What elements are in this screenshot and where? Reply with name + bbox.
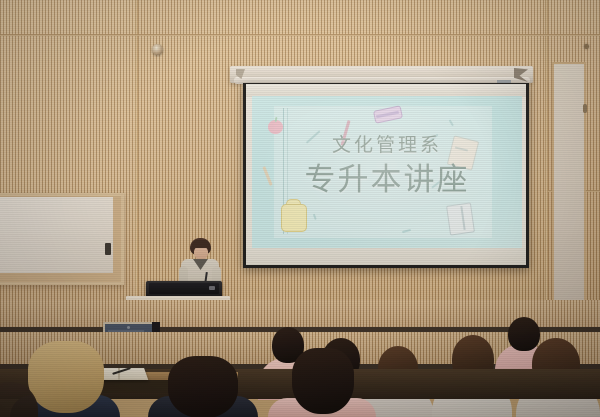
whiteboard-surface	[0, 197, 113, 273]
back-monitor-indicator-icon	[127, 326, 130, 329]
door-knob-icon[interactable]	[583, 104, 587, 113]
projected-slide: 文化管理系 专升本讲座	[252, 96, 522, 250]
audience-head-front	[292, 348, 354, 414]
slide-title-lecture: 专升本讲座	[252, 154, 522, 199]
slide-subtitle-department: 文化管理系	[252, 130, 522, 157]
presenter-hair-fringe	[192, 240, 210, 248]
wall-seam-vertical-left	[135, 0, 138, 345]
audience-head-front	[168, 356, 238, 417]
laptop-logo-icon	[209, 286, 215, 290]
right-door-panel[interactable]	[552, 62, 586, 334]
screen-bottom-band	[246, 248, 526, 265]
audience-head-front-blonde	[28, 341, 104, 413]
audience-head	[508, 317, 540, 351]
whiteboard-marker-tray	[105, 243, 111, 255]
school-bag-icon	[281, 204, 307, 232]
ceiling-sensor-icon	[152, 44, 163, 55]
left-wall-slat-texture	[0, 0, 137, 345]
lecture-hall-photo: 文化管理系 专升本讲座	[0, 0, 600, 417]
wall-fixture-icon	[584, 44, 589, 49]
wall-seam-horizontal-top	[0, 34, 600, 36]
wall-seam-vertical-right	[545, 0, 548, 345]
